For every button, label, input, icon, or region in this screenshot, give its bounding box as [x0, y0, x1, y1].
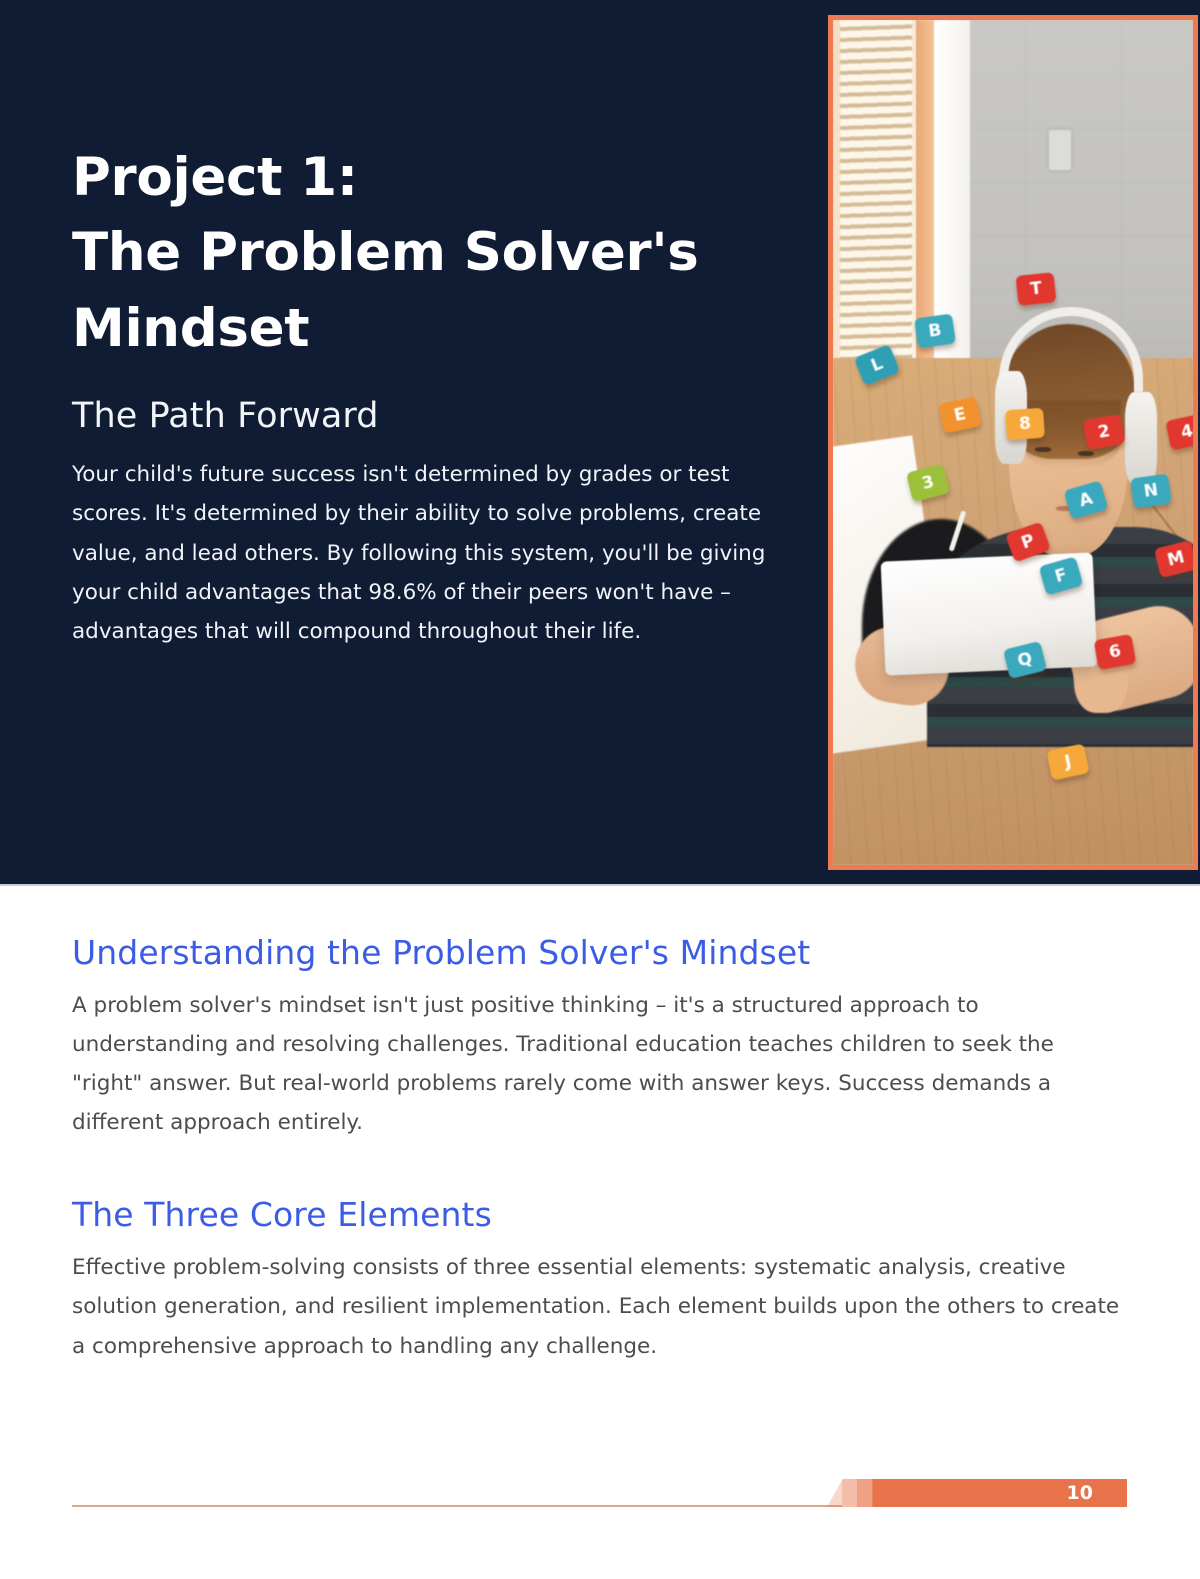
wall-outlet: [1049, 130, 1071, 170]
hero-paragraph: Your child's future success isn't determ…: [72, 455, 798, 651]
main-content: Understanding the Problem Solver's Minds…: [72, 932, 1130, 1366]
photo-scene: LBTE8243ANPFMQ6J: [833, 20, 1193, 865]
hero-text-block: Project 1: The Problem Solver's Mindset …: [72, 140, 802, 651]
letter-tile: T: [1015, 272, 1056, 306]
letter-tile: 8: [1005, 407, 1045, 440]
hero-subheading: The Path Forward: [72, 394, 802, 440]
letter-tile: 6: [1093, 634, 1136, 670]
page-number-banner: 10: [827, 1479, 1127, 1507]
letter-tile: N: [1130, 474, 1172, 509]
footer-rule: [72, 1505, 842, 1507]
section-heading: The Three Core Elements: [72, 1194, 1130, 1237]
boy-left-eye: [1035, 447, 1051, 452]
hero-photo: LBTE8243ANPFMQ6J: [828, 15, 1198, 870]
document-page: Project 1: The Problem Solver's Mindset …: [0, 0, 1200, 1579]
headphones-right-cup: [1125, 392, 1157, 485]
section-spacer: [72, 1142, 1130, 1194]
boy-right-eye: [1078, 451, 1094, 456]
title-line-3: Mindset: [72, 291, 802, 366]
page-title: Project 1: The Problem Solver's Mindset: [72, 140, 802, 366]
section-understanding: Understanding the Problem Solver's Minds…: [72, 932, 1130, 1142]
section-heading: Understanding the Problem Solver's Minds…: [72, 932, 1130, 975]
section-paragraph: A problem solver's mindset isn't just po…: [72, 986, 1130, 1143]
section-three-core-elements: The Three Core Elements Effective proble…: [72, 1194, 1130, 1365]
hero-section: Project 1: The Problem Solver's Mindset …: [0, 0, 1200, 884]
title-line-1: Project 1:: [72, 140, 802, 215]
title-line-2: The Problem Solver's: [72, 215, 802, 290]
section-paragraph: Effective problem-solving consists of th…: [72, 1248, 1130, 1365]
page-number: 10: [1067, 1479, 1093, 1507]
letter-tile: B: [914, 313, 956, 348]
hero-divider: [0, 884, 1200, 886]
